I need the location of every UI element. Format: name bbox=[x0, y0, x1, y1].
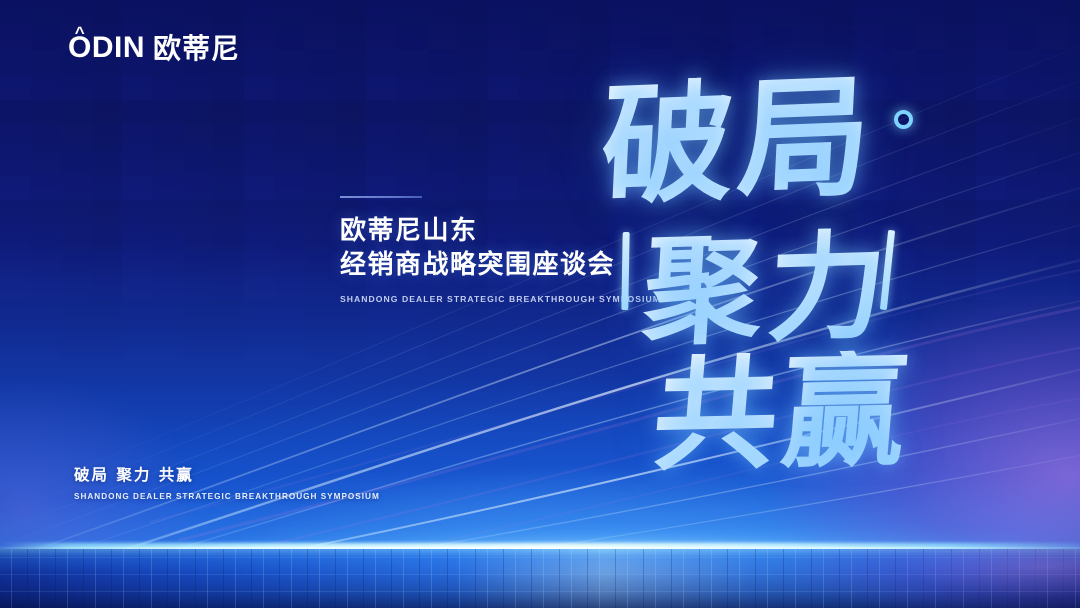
bracket-left-bar bbox=[621, 232, 629, 310]
logo-chinese-wordmark: 欧蒂尼 bbox=[153, 35, 240, 63]
title-divider-rule bbox=[340, 196, 422, 198]
footer-tagline-chinese: 破局 聚力 共赢 bbox=[74, 468, 380, 484]
logo-latin-wordmark: ^ O DIN bbox=[68, 33, 145, 63]
circumflex-accent-icon: ^ bbox=[75, 24, 85, 41]
hero-line-1: 破局 bbox=[598, 71, 877, 213]
degree-circle-icon bbox=[894, 110, 913, 129]
logo-letter-o: ^ O bbox=[68, 33, 92, 63]
hero-line-3: 共赢 bbox=[649, 349, 916, 478]
logo-latin-rest: DIN bbox=[92, 33, 145, 63]
footer-tagline: 破局 聚力 共赢 SHANDONG DEALER STRATEGIC BREAK… bbox=[74, 468, 380, 501]
odin-logo: ^ O DIN 欧蒂尼 bbox=[68, 33, 240, 63]
hero-line-2: 聚力 bbox=[640, 227, 896, 352]
hero-slogan: 破局 聚力 共赢 bbox=[596, 52, 1016, 472]
poster-canvas: ^ O DIN 欧蒂尼 欧蒂尼山东 经销商战略突围座谈会 SHANDONG DE… bbox=[0, 0, 1080, 608]
stage-floor-magenta-glow bbox=[0, 549, 1080, 608]
footer-tagline-english: SHANDONG DEALER STRATEGIC BREAKTHROUGH S… bbox=[74, 492, 380, 501]
